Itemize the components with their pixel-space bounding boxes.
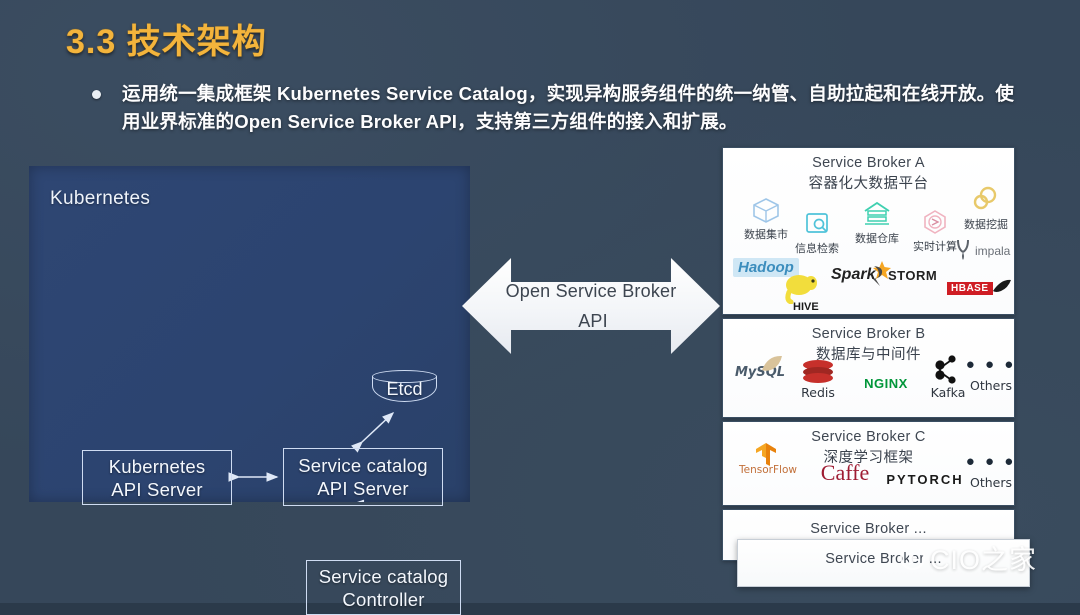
logo-spark[interactable]: Spark [831,266,875,284]
service-chip-data-mining[interactable]: 数据挖掘 [953,186,1019,233]
service-chip-label: 数据仓库 [855,232,899,245]
node-line-2: Controller [307,588,460,611]
logo-impala[interactable]: impala [959,244,1010,258]
logo-others-b[interactable]: ● ● ● Others [965,361,1017,393]
node-line-1: Service catalog [307,565,460,588]
logo-caffe-label: Caffe [809,460,881,486]
mining-icon [970,186,1002,214]
hive-elephant-icon [779,270,821,304]
open-service-broker-arrow-icon [462,258,720,354]
ellipsis-dots-icon: ● ● ● [965,458,1017,466]
node-line-1: Kubernetes [83,455,231,478]
logo-storm-label: STORM [888,268,937,283]
logo-nginx-label: NGINX [864,376,908,391]
watermark: CIO之家 [900,538,1037,577]
service-chip-label: 信息检索 [795,242,839,255]
service-broker-c-panel[interactable]: Service Broker C 深度学习框架 TensorFlow Caffe… [722,421,1015,506]
logo-hbase-label: HBASE [947,282,993,295]
logo-hive[interactable]: HIVE [779,270,821,313]
cube-icon [751,196,781,224]
logo-hbase[interactable]: HBASE [947,282,993,295]
realtime-icon [920,208,950,236]
play-circle-icon [900,545,925,570]
logo-redis-label: Redis [785,385,851,400]
broker-d-title: Service Broker ... [723,521,1014,537]
hbase-orca-icon [991,277,1013,297]
storm-bolt-icon [870,264,888,286]
logo-impala-label: impala [975,244,1010,258]
node-service-catalog-controller[interactable]: Service catalog Controller [306,560,461,615]
bullet-text: 运用统一集成框架 Kubernetes Service Catalog，实现异构… [122,80,1022,136]
logo-mysql[interactable]: MySQL [729,365,791,380]
page-title: 3.3 技术架构 [66,14,267,63]
tensorflow-icon [753,442,779,468]
redis-stack-icon [798,359,838,385]
logo-storm[interactable]: STORM [888,268,937,283]
ellipsis-dots-icon: ● ● ● [965,361,1017,369]
logo-pytorch[interactable]: PYTORCH [881,472,969,487]
node-line-2: API Server [83,478,231,501]
warehouse-icon [861,200,893,228]
etcd-node[interactable]: Etcd [372,370,437,408]
service-broker-a-panel[interactable]: Service Broker A 容器化大数据平台 数据集市 信息检索 数据仓库 [722,147,1015,315]
logo-tensorflow[interactable]: TensorFlow [731,464,805,476]
bullet-paragraph: 运用统一集成框架 Kubernetes Service Catalog，实现异构… [92,80,1022,136]
logo-hive-label: HIVE [793,301,821,313]
broker-b-title: Service Broker B [723,326,1014,342]
logo-pytorch-label: PYTORCH [881,472,969,487]
bullet-dot-icon [92,90,101,99]
search-folder-icon [802,210,832,238]
logo-nginx[interactable]: NGINX [847,375,925,393]
kubernetes-panel-label: Kubernetes [50,188,150,210]
kafka-nodes-icon [931,355,965,385]
service-chip-label: 数据挖掘 [964,218,1008,231]
logo-spark-label: Spark [831,266,875,284]
impala-horns-icon [953,238,975,262]
node-kubernetes-api-server[interactable]: Kubernetes API Server [82,450,232,505]
etcd-label: Etcd [372,379,437,400]
node-line-1: Service catalog [284,454,442,477]
logo-others-b-label: Others [965,378,1017,393]
service-chip-label: 实时计算 [913,240,957,253]
service-broker-b-panel[interactable]: Service Broker B 数据库与中间件 MySQL Redis NGI… [722,318,1015,418]
watermark-text: CIO之家 [930,538,1037,577]
logo-others-c-label: Others [965,475,1017,490]
logo-others-c[interactable]: ● ● ● Others [965,458,1017,490]
kubernetes-diagram-panel: Kubernetes service catalog api --> etcd … [29,166,470,502]
logo-caffe[interactable]: Caffe [809,460,881,486]
broker-a-title: Service Broker A [723,155,1014,171]
node-line-2: API Server [284,477,442,500]
logo-redis[interactable]: Redis [785,359,851,400]
node-service-catalog-api-server[interactable]: Service catalog API Server [283,448,443,506]
